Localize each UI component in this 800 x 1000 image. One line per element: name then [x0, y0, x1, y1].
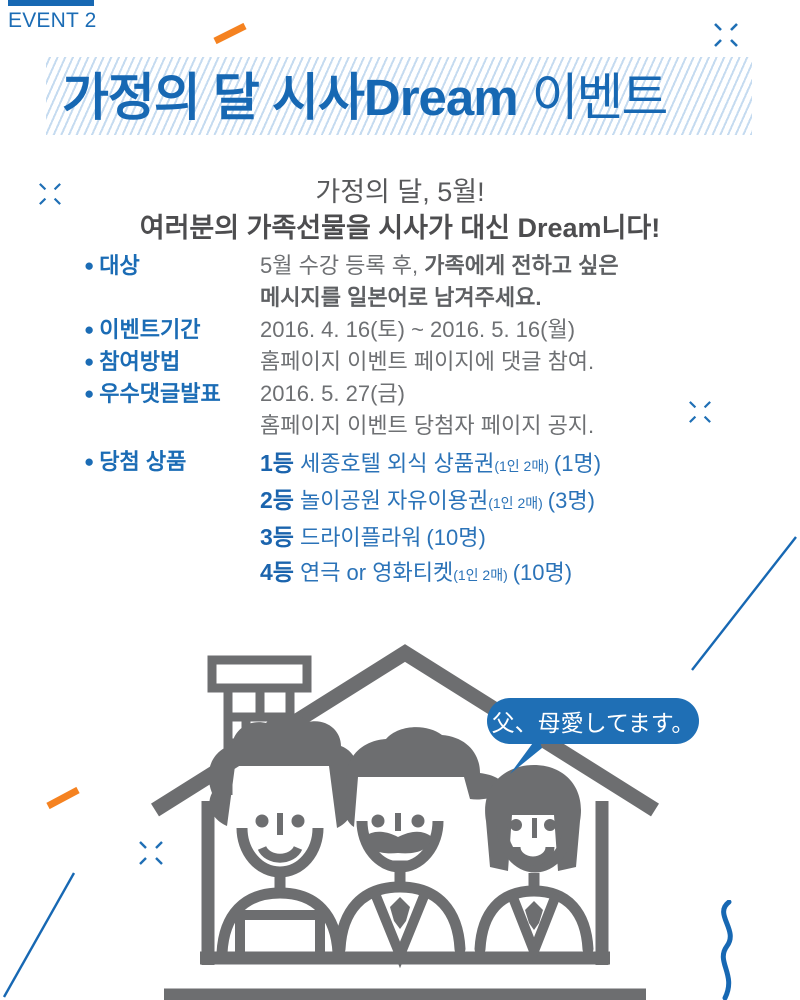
sparkle-icon	[688, 400, 712, 424]
detail-value-line: 메시지를 일본어로 남겨주세요.	[260, 282, 744, 314]
figure-daughter	[480, 765, 588, 951]
detail-label-text: 대상	[99, 253, 139, 278]
house-family-illustration	[150, 625, 670, 1000]
detail-label: ●당첨 상품	[84, 446, 260, 478]
detail-value: 5월 수강 등록 후, 가족에게 전하고 싶은 메시지를 일본어로 남겨주세요.	[260, 250, 744, 314]
detail-value: 2016. 5. 27(금) 홈페이지 이벤트 당첨자 페이지 공지.	[260, 378, 744, 442]
detail-label: ●우수댓글발표	[84, 378, 260, 410]
detail-label-text: 당첨 상품	[99, 449, 186, 474]
bullet-icon: ●	[84, 250, 94, 282]
prize-desc: 연극 or 영화티켓	[300, 556, 453, 590]
detail-label-text: 참여방법	[99, 349, 180, 374]
bullet-icon: ●	[84, 446, 94, 478]
speech-bubble: 父、母愛してます。	[487, 698, 699, 744]
sparkle-icon	[38, 182, 62, 206]
prize-list: 1등 세종호텔 외식 상품권 (1인 2매) (1명) 2등 놀이공원 자유이용…	[260, 446, 744, 592]
event-poster: EVENT 2 가정의 달 시사 Dream 이벤트 가정의 달, 5월! 여러…	[0, 0, 800, 1000]
prize-item: 2등 놀이공원 자유이용권 (1인 2매) (3명)	[260, 483, 744, 520]
bullet-icon: ●	[84, 314, 94, 346]
orange-dash-icon	[44, 785, 86, 811]
prize-item: 3등 드라이플라워 (10명)	[260, 520, 744, 555]
detail-value-line: 홈페이지 이벤트 페이지에 댓글 참여.	[260, 346, 744, 378]
prize-rank: 2등	[260, 483, 294, 517]
detail-row-announcement: ●우수댓글발표 2016. 5. 27(금) 홈페이지 이벤트 당첨자 페이지 …	[84, 378, 744, 442]
detail-value-line: 2016. 5. 27(금)	[260, 378, 744, 410]
prize-note: (1인 2매)	[494, 449, 549, 483]
bullet-icon: ●	[84, 378, 94, 410]
detail-value-line: 홈페이지 이벤트 당첨자 페이지 공지.	[260, 410, 744, 442]
prize-count: (10명)	[426, 521, 485, 555]
detail-value-line: 5월 수강 등록 후, 가족에게 전하고 싶은	[260, 250, 744, 282]
sparkle-icon	[713, 22, 739, 48]
detail-value-bold: 가족에게 전하고 싶은	[424, 253, 618, 278]
orange-dash-icon	[212, 22, 252, 46]
prize-desc: 드라이플라워	[300, 521, 421, 555]
prize-count: (1명)	[554, 447, 601, 481]
detail-row-period: ●이벤트기간 2016. 4. 16(토) ~ 2016. 5. 16(월)	[84, 314, 744, 346]
prize-rank: 1등	[260, 446, 294, 480]
subtitle-line-1: 가정의 달, 5월!	[0, 170, 800, 209]
sparkle-icon	[138, 840, 164, 866]
prize-note: (1인 2매)	[488, 486, 543, 520]
detail-value: 홈페이지 이벤트 페이지에 댓글 참여.	[260, 346, 744, 378]
squiggle-decoration	[705, 900, 749, 1000]
prize-count: (3명)	[548, 484, 595, 518]
event-tag-label: EVENT 2	[8, 6, 94, 34]
prize-rank: 3등	[260, 520, 294, 554]
prize-rank: 4등	[260, 555, 294, 589]
prize-item: 1등 세종호텔 외식 상품권 (1인 2매) (1명)	[260, 446, 744, 483]
bullet-icon: ●	[84, 346, 94, 378]
page-title-part1: 가정의 달 시사	[62, 72, 364, 123]
prize-item: 4등 연극 or 영화티켓 (1인 2매) (10명)	[260, 555, 744, 592]
detail-label: ●이벤트기간	[84, 314, 260, 346]
detail-row-prizes: ●당첨 상품 1등 세종호텔 외식 상품권 (1인 2매) (1명) 2등 놀이…	[84, 446, 744, 592]
thin-diagonal-line	[690, 525, 800, 675]
subtitle-line-2: 여러분의 가족선물을 시사가 대신 Dream니다!	[0, 206, 800, 245]
figure-mother	[209, 713, 358, 957]
detail-row-how-to-join: ●참여방법 홈페이지 이벤트 페이지에 댓글 참여.	[84, 346, 744, 378]
detail-value-bold: 메시지를 일본어로 남겨주세요.	[260, 285, 541, 310]
event-details-list: ●대상 5월 수강 등록 후, 가족에게 전하고 싶은 메시지를 일본어로 남겨…	[84, 250, 744, 592]
figure-father	[340, 727, 504, 955]
detail-value-line: 2016. 4. 16(토) ~ 2016. 5. 16(월)	[260, 314, 744, 346]
event-tag: EVENT 2	[8, 0, 94, 34]
prize-count: (10명)	[513, 556, 572, 590]
thin-diagonal-line	[0, 855, 120, 1000]
detail-label: ●대상	[84, 250, 260, 282]
prize-note: (1인 2매)	[453, 558, 508, 592]
detail-value-normal: 5월 수강 등록 후,	[260, 253, 424, 278]
speech-bubble-text: 父、母愛してます。	[492, 704, 695, 738]
detail-label-text: 이벤트기간	[99, 317, 200, 342]
page-title-part2: Dream	[364, 72, 518, 123]
detail-value: 2016. 4. 16(토) ~ 2016. 5. 16(월)	[260, 314, 744, 346]
page-title: 가정의 달 시사 Dream 이벤트	[62, 58, 762, 136]
detail-label-text: 우수댓글발표	[99, 381, 220, 406]
prize-desc: 놀이공원 자유이용권	[300, 484, 488, 518]
page-title-part3: 이벤트	[532, 72, 667, 123]
detail-label: ●참여방법	[84, 346, 260, 378]
prize-desc: 세종호텔 외식 상품권	[300, 447, 494, 481]
detail-row-target: ●대상 5월 수강 등록 후, 가족에게 전하고 싶은 메시지를 일본어로 남겨…	[84, 250, 744, 314]
